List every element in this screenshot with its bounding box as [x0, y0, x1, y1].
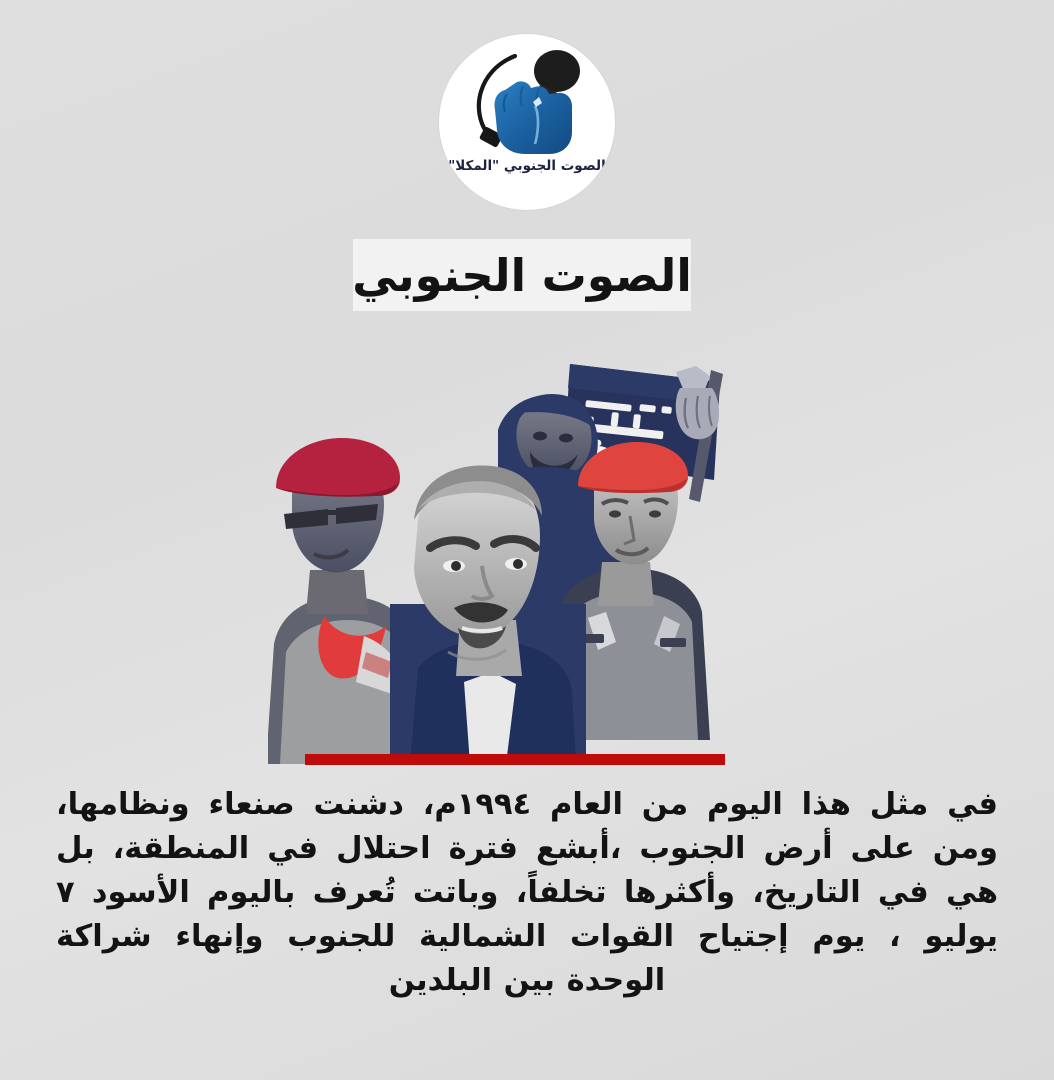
- logo-badge: الصوت الجنوبي "المكلا": [439, 34, 615, 210]
- article-paragraph: في مثل هذا اليوم من العام ١٩٩٤م، دشنت صن…: [56, 783, 998, 1003]
- collage-accent-bar: [305, 754, 725, 765]
- logo-tagline: الصوت الجنوبي "المكلا": [439, 158, 615, 174]
- poster-canvas: الصوت الجنوبي "المكلا" الصوت الجنوبي: [0, 0, 1054, 1080]
- fist-holding-microphone-icon: [453, 44, 601, 162]
- page-title: الصوت الجنوبي: [352, 253, 692, 298]
- photo-collage: [268, 352, 748, 764]
- page-title-plate: الصوت الجنوبي: [353, 239, 691, 311]
- article-body: في مثل هذا اليوم من العام ١٩٩٤م، دشنت صن…: [56, 783, 998, 1003]
